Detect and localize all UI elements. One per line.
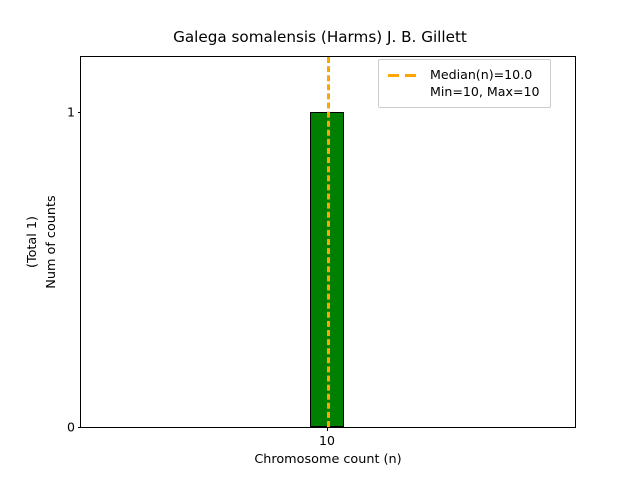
matplotlib-figure: Galega somalensis (Harms) J. B. Gillett … <box>0 0 640 480</box>
legend-box: Median(n)=10.0 Min=10, Max=10 <box>378 59 551 108</box>
median-line <box>327 57 330 427</box>
y-axis-label: (Total 1) Num of counts <box>23 195 61 288</box>
ytick-mark-1 <box>78 112 82 113</box>
legend-minmax-text: Min=10, Max=10 <box>430 83 540 100</box>
ytick-mark-0 <box>78 427 82 428</box>
y-axis-label-wrap: (Total 1) Num of counts <box>21 56 63 428</box>
ytick-label-0: 0 <box>67 420 75 435</box>
y-axis-label-main: Num of counts <box>44 195 59 288</box>
x-axis-label: Chromosome count (n) <box>80 452 576 467</box>
legend-entry-median: Median(n)=10.0 Min=10, Max=10 <box>387 66 542 100</box>
ytick-label-1: 1 <box>67 105 75 120</box>
legend-label-median: Median(n)=10.0 Min=10, Max=10 <box>430 66 540 100</box>
legend-dashed-line-icon <box>387 67 421 83</box>
xtick-mark-10 <box>327 427 328 431</box>
legend-median-text: Median(n)=10.0 <box>430 67 532 82</box>
chart-title: Galega somalensis (Harms) J. B. Gillett <box>0 28 640 46</box>
plot-inner <box>81 57 575 427</box>
y-axis-label-total: (Total 1) <box>23 195 42 288</box>
xtick-label-10: 10 <box>319 433 335 448</box>
plot-area: 0 1 10 Median(n)=10.0 Min=10, Max=10 <box>80 56 576 428</box>
